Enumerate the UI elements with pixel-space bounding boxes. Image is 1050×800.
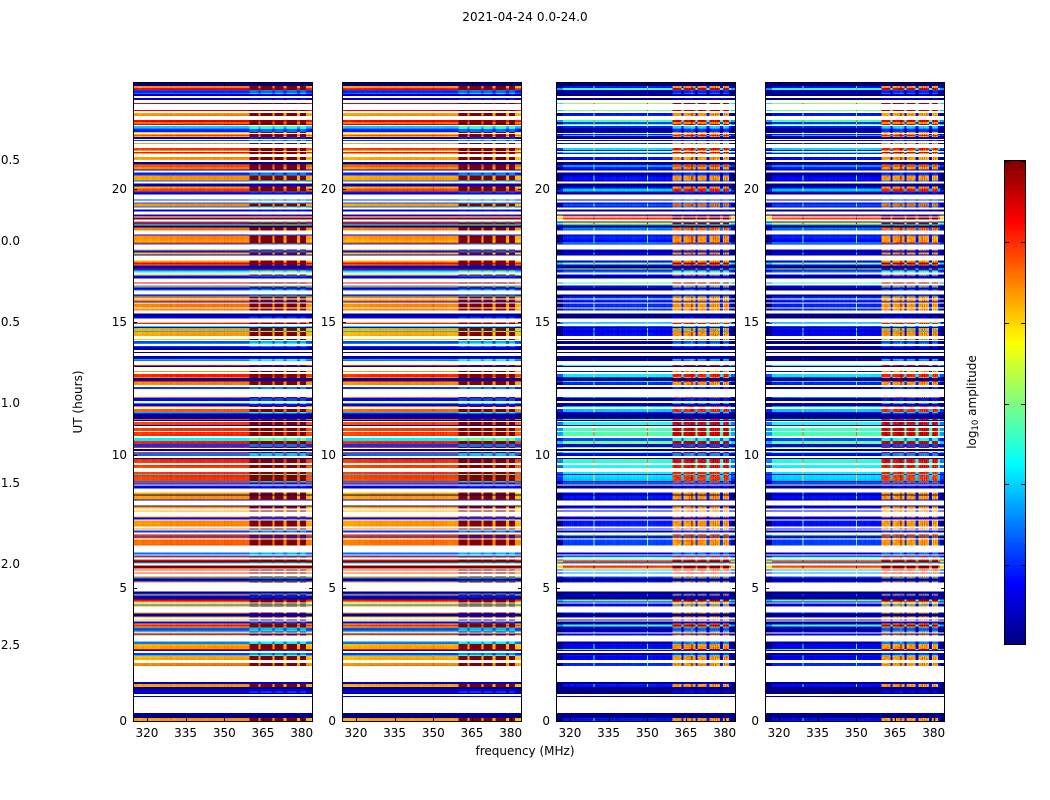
x-tick-mark [356,82,357,86]
y-tick-label: 15 [308,315,336,329]
x-tick-mark [511,718,512,722]
x-tick-label: 335 [597,726,620,740]
colorbar-tick-mark [1005,565,1009,566]
dynamic-spectrum-image-xy [557,83,735,721]
x-tick-label: 365 [252,726,275,740]
x-tick-mark [779,82,780,86]
x-tick-label: 365 [461,726,484,740]
x-tick-mark [570,718,571,722]
y-tick-label: 5 [522,581,550,595]
y-tick-mark [556,455,560,456]
x-tick-label: 350 [422,726,445,740]
y-tick-label: 15 [99,315,127,329]
x-tick-label: 380 [290,726,313,740]
x-tick-mark [818,82,819,86]
x-tick-label: 365 [675,726,698,740]
x-tick-mark [302,82,303,86]
x-tick-mark [818,718,819,722]
x-tick-label: 335 [383,726,406,740]
x-tick-mark [686,82,687,86]
x-tick-mark [224,718,225,722]
y-tick-mark [133,189,137,190]
figure-suptitle: 2021-04-24 0.0-24.0 [0,10,1050,24]
y-tick-mark [133,588,137,589]
y-tick-mark [342,721,346,722]
y-tick-mark [556,588,560,589]
y-tick-mark [765,588,769,589]
spectrum-panel-yy[interactable]: YY, V0=EA28 [342,82,522,722]
colorbar-tick-label: −1.0 [0,396,20,410]
colorbar-tick-label: 0.0 [1,234,20,248]
x-tick-label: 320 [344,726,367,740]
y-axis-label: UT (hours) [71,370,85,433]
x-tick-mark [472,718,473,722]
colorbar-label-base: log [965,430,979,448]
y-tick-mark [941,322,945,323]
y-tick-mark [556,189,560,190]
spectrum-panel-xx[interactable]: XX, V0=EA28 [133,82,313,722]
y-tick-label: 10 [522,448,550,462]
dynamic-spectrum-image-yy [343,83,521,721]
y-tick-label: 15 [731,315,759,329]
colorbar-tick-mark [1021,323,1025,324]
y-tick-label: 20 [308,182,336,196]
x-tick-mark [263,82,264,86]
x-tick-mark [725,82,726,86]
y-tick-label: 0 [308,714,336,728]
y-tick-label: 10 [308,448,336,462]
x-tick-mark [934,82,935,86]
colorbar-tick-mark [1005,484,1009,485]
y-tick-mark [765,322,769,323]
x-tick-mark [302,718,303,722]
x-tick-mark [511,82,512,86]
y-tick-mark [941,189,945,190]
x-tick-mark [609,718,610,722]
y-tick-mark [765,721,769,722]
x-tick-label: 335 [174,726,197,740]
y-tick-mark [133,455,137,456]
x-tick-mark [395,718,396,722]
x-tick-mark [224,82,225,86]
y-tick-mark [556,322,560,323]
colorbar-tick-label: −2.5 [0,638,20,652]
colorbar-tick-mark [1021,404,1025,405]
x-tick-mark [186,718,187,722]
colorbar-label-rest: amplitude [965,355,979,419]
x-tick-label: 380 [922,726,945,740]
y-tick-label: 20 [99,182,127,196]
figure-canvas: 2021-04-24 0.0-24.0 XX, V0=EA28YY, V0=EA… [0,0,1050,800]
x-tick-mark [725,718,726,722]
x-tick-mark [856,82,857,86]
x-tick-mark [147,718,148,722]
colorbar-tick-label: −0.5 [0,315,20,329]
x-tick-mark [186,82,187,86]
x-tick-mark [395,82,396,86]
y-tick-label: 20 [522,182,550,196]
x-tick-label: 350 [845,726,868,740]
colorbar-tick-label: −1.5 [0,476,20,490]
x-tick-mark [433,82,434,86]
colorbar-tick-mark [1005,242,1009,243]
x-tick-label: 380 [499,726,522,740]
x-tick-label: 350 [636,726,659,740]
x-tick-label: 365 [884,726,907,740]
x-tick-mark [570,82,571,86]
colorbar-label-subscript: 10 [971,420,981,431]
y-tick-mark [556,721,560,722]
colorbar-tick-label: 0.5 [1,153,20,167]
x-tick-label: 320 [558,726,581,740]
x-tick-label: 335 [806,726,829,740]
y-tick-label: 20 [731,182,759,196]
y-tick-mark [941,721,945,722]
colorbar-tick-mark [1021,484,1025,485]
y-tick-mark [941,455,945,456]
y-tick-label: 5 [99,581,127,595]
colorbar-tick-mark [1005,404,1009,405]
x-tick-mark [647,718,648,722]
y-tick-label: 10 [731,448,759,462]
y-tick-mark [765,189,769,190]
colorbar-label: log10 amplitude [965,355,979,449]
y-tick-mark [133,721,137,722]
y-tick-label: 0 [731,714,759,728]
x-tick-mark [147,82,148,86]
x-tick-mark [356,718,357,722]
colorbar-tick-mark [1021,242,1025,243]
x-tick-mark [263,718,264,722]
y-tick-label: 5 [731,581,759,595]
x-tick-mark [647,82,648,86]
x-tick-mark [433,718,434,722]
x-tick-mark [895,82,896,86]
y-tick-mark [342,322,346,323]
y-tick-label: 5 [308,581,336,595]
x-tick-mark [934,718,935,722]
x-tick-mark [686,718,687,722]
y-tick-label: 0 [522,714,550,728]
y-tick-mark [342,455,346,456]
dynamic-spectrum-image-xx [134,83,312,721]
colorbar-tick-mark [1021,565,1025,566]
y-tick-label: 0 [99,714,127,728]
dynamic-spectrum-image-yx [766,83,944,721]
y-tick-mark [342,588,346,589]
colorbar-tick-mark [1005,161,1009,162]
x-tick-label: 320 [135,726,158,740]
y-tick-mark [765,455,769,456]
x-tick-label: 320 [767,726,790,740]
x-tick-label: 380 [713,726,736,740]
y-tick-label: 15 [522,315,550,329]
colorbar-tick-mark [1021,161,1025,162]
y-tick-mark [342,189,346,190]
colorbar[interactable] [1004,160,1026,645]
colorbar-tick-mark [1005,323,1009,324]
x-tick-mark [856,718,857,722]
spectrum-panel-xy[interactable]: XY, V0=EA28 [556,82,736,722]
spectrum-panel-yx[interactable]: YX, V0=EA28 [765,82,945,722]
y-tick-mark [941,588,945,589]
y-tick-mark [133,322,137,323]
x-tick-mark [895,718,896,722]
x-tick-label: 350 [213,726,236,740]
x-tick-mark [609,82,610,86]
x-tick-mark [472,82,473,86]
colorbar-tick-label: −2.0 [0,557,20,571]
x-axis-label: frequency (MHz) [0,744,1050,758]
x-tick-mark [779,718,780,722]
y-tick-label: 10 [99,448,127,462]
